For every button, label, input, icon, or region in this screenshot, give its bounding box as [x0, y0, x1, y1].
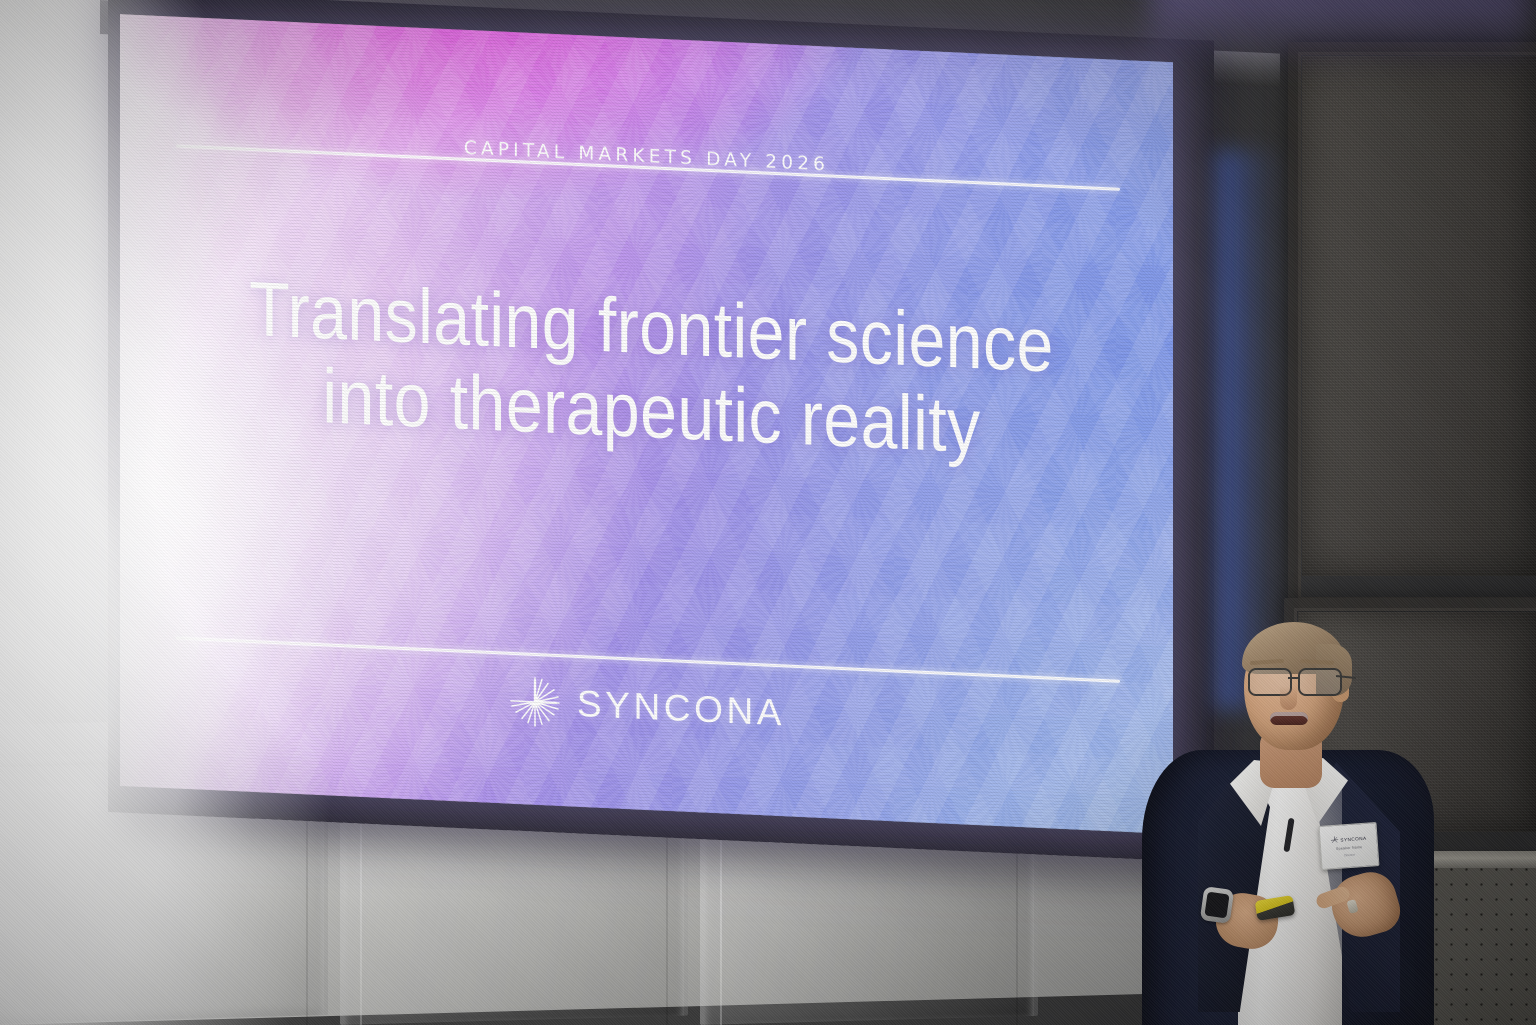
presenter-nose	[1280, 686, 1297, 710]
presentation-photo-scene: CAPITAL MARKETS DAY 2026 Translating fro…	[0, 0, 1536, 1025]
badge-role: Director	[1344, 853, 1355, 858]
glasses-bridge	[1288, 677, 1300, 679]
presenter-name-badge: SYNCONA Speaker Name Director	[1319, 822, 1380, 870]
presentation-screen[interactable]: CAPITAL MARKETS DAY 2026 Translating fro…	[120, 14, 1173, 834]
presenter-smartwatch	[1200, 886, 1234, 924]
presenter-mouth	[1270, 712, 1308, 725]
badge-starburst-icon	[1330, 836, 1339, 845]
violet-light-spill	[1150, 0, 1530, 70]
acoustic-panel-upper	[1302, 56, 1536, 576]
glasses-lens-right	[1298, 668, 1342, 696]
presenter: SYNCONA Speaker Name Director	[1120, 612, 1450, 1025]
badge-wordmark: SYNCONA	[1340, 835, 1367, 842]
badge-logo: SYNCONA	[1330, 834, 1367, 845]
led-scanlines	[120, 14, 1173, 834]
badge-name: Speaker Name	[1336, 845, 1363, 851]
